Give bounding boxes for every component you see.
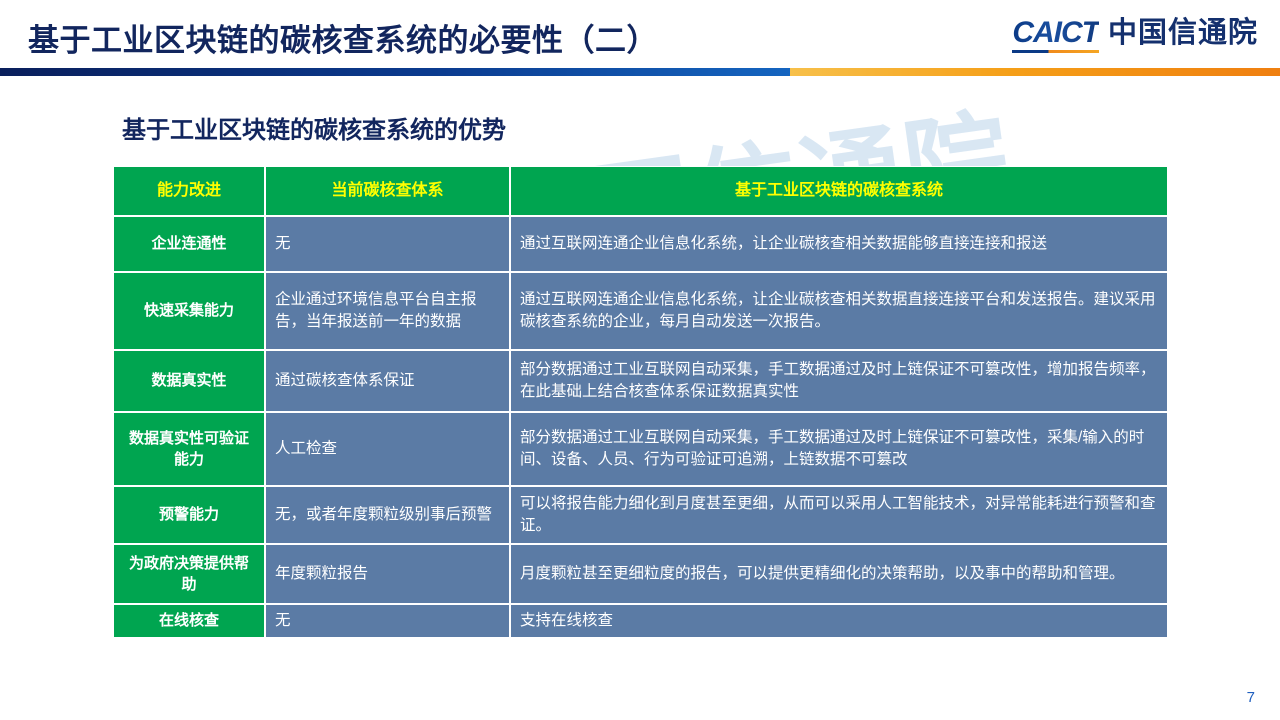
- header-divider-orange: [790, 68, 1280, 76]
- cell-blockchain: 部分数据通过工业互联网自动采集，手工数据通过及时上链保证不可篡改性，增加报告频率…: [510, 350, 1168, 412]
- header-divider-blue: [0, 68, 790, 76]
- cell-current: 通过碳核查体系保证: [265, 350, 510, 412]
- cell-blockchain: 部分数据通过工业互联网自动采集，手工数据通过及时上链保证不可篡改性，采集/输入的…: [510, 412, 1168, 486]
- column-header-capability: 能力改进: [113, 166, 265, 216]
- caict-logo: CAICT 中国信通院: [1012, 18, 1258, 53]
- slide-header: 基于工业区块链的碳核查系统的必要性（二） CAICT 中国信通院: [0, 0, 1280, 78]
- table-row: 数据真实性可验证能力 人工检查 部分数据通过工业互联网自动采集，手工数据通过及时…: [113, 412, 1168, 486]
- cell-blockchain: 支持在线核查: [510, 604, 1168, 638]
- cell-current: 人工检查: [265, 412, 510, 486]
- cell-current: 年度颗粒报告: [265, 544, 510, 604]
- cell-capability: 为政府决策提供帮助: [113, 544, 265, 604]
- page-title: 基于工业区块链的碳核查系统的必要性（二）: [28, 15, 658, 60]
- slide-canvas: CAICT 中国信通院 工业互联网产业联盟 Alliance of Indust…: [0, 0, 1280, 720]
- table-body: 企业连通性 无 通过互联网连通企业信息化系统，让企业碳核查相关数据能够直接连接和…: [113, 216, 1168, 638]
- section-heading: 基于工业区块链的碳核查系统的优势: [122, 110, 506, 145]
- table-row: 预警能力 无，或者年度颗粒级别事后预警 可以将报告能力细化到月度甚至更细，从而可…: [113, 486, 1168, 544]
- table-header-row: 能力改进 当前碳核查体系 基于工业区块链的碳核查系统: [113, 166, 1168, 216]
- page-number: 7: [1247, 689, 1255, 706]
- table-row: 数据真实性 通过碳核查体系保证 部分数据通过工业互联网自动采集，手工数据通过及时…: [113, 350, 1168, 412]
- comparison-table-wrapper: 能力改进 当前碳核查体系 基于工业区块链的碳核查系统 企业连通性 无 通过互联网…: [113, 166, 1168, 638]
- cell-capability: 数据真实性可验证能力: [113, 412, 265, 486]
- cell-blockchain: 通过互联网连通企业信息化系统，让企业碳核查相关数据能够直接连接和报送: [510, 216, 1168, 272]
- cell-current: 企业通过环境信息平台自主报告，当年报送前一年的数据: [265, 272, 510, 350]
- cell-capability: 快速采集能力: [113, 272, 265, 350]
- cell-capability: 在线核查: [113, 604, 265, 638]
- cell-current: 无，或者年度颗粒级别事后预警: [265, 486, 510, 544]
- table-row: 为政府决策提供帮助 年度颗粒报告 月度颗粒甚至更细粒度的报告，可以提供更精细化的…: [113, 544, 1168, 604]
- cell-current: 无: [265, 604, 510, 638]
- column-header-current: 当前碳核查体系: [265, 166, 510, 216]
- table-row: 在线核查 无 支持在线核查: [113, 604, 1168, 638]
- caict-chinese-name: 中国信通院: [1108, 19, 1258, 53]
- cell-blockchain: 可以将报告能力细化到月度甚至更细，从而可以采用人工智能技术，对异常能耗进行预警和…: [510, 486, 1168, 544]
- table-row: 快速采集能力 企业通过环境信息平台自主报告，当年报送前一年的数据 通过互联网连通…: [113, 272, 1168, 350]
- column-header-blockchain: 基于工业区块链的碳核查系统: [510, 166, 1168, 216]
- cell-capability: 数据真实性: [113, 350, 265, 412]
- caict-wordmark-icon: CAICT: [1012, 18, 1099, 53]
- cell-current: 无: [265, 216, 510, 272]
- cell-capability: 企业连通性: [113, 216, 265, 272]
- comparison-table: 能力改进 当前碳核查体系 基于工业区块链的碳核查系统 企业连通性 无 通过互联网…: [113, 166, 1168, 638]
- table-row: 企业连通性 无 通过互联网连通企业信息化系统，让企业碳核查相关数据能够直接连接和…: [113, 216, 1168, 272]
- cell-capability: 预警能力: [113, 486, 265, 544]
- cell-blockchain: 月度颗粒甚至更细粒度的报告，可以提供更精细化的决策帮助，以及事中的帮助和管理。: [510, 544, 1168, 604]
- header-divider: [0, 68, 1280, 76]
- cell-blockchain: 通过互联网连通企业信息化系统，让企业碳核查相关数据直接连接平台和发送报告。建议采…: [510, 272, 1168, 350]
